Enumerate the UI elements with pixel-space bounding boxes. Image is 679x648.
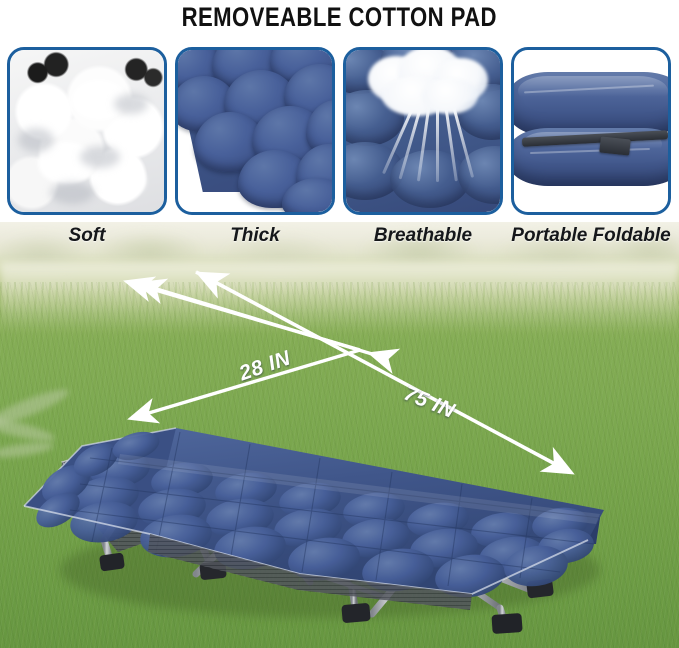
dimension-overlay: [0, 222, 679, 648]
page-title: REMOVEABLE COTTON PAD: [182, 4, 497, 31]
feature-caption-soft: Soft: [7, 226, 167, 245]
feature-panel-strip: REMOVEABLE COTTON PAD: [0, 0, 679, 262]
cloud-airflow-photo: [346, 50, 500, 212]
folded-pad-with-strap-photo: [514, 50, 668, 212]
feature-panel-soft[interactable]: [7, 47, 167, 215]
product-infographic: 28 IN 75 IN REMOVEABLE COTTON PAD: [0, 0, 679, 648]
feature-panel-breathable[interactable]: [343, 47, 503, 215]
feature-panel-portable-foldable[interactable]: [511, 47, 671, 215]
header: REMOVEABLE COTTON PAD: [0, 0, 679, 34]
cotton-fill-photo: [10, 50, 164, 212]
feature-caption-thick: Thick: [175, 226, 335, 245]
feature-caption-breathable: Breathable: [343, 226, 503, 245]
blue-quilted-pad-photo: [178, 50, 332, 212]
feature-panel-thick[interactable]: [175, 47, 335, 215]
feature-caption-portable-foldable: Portable Foldable: [511, 226, 671, 245]
